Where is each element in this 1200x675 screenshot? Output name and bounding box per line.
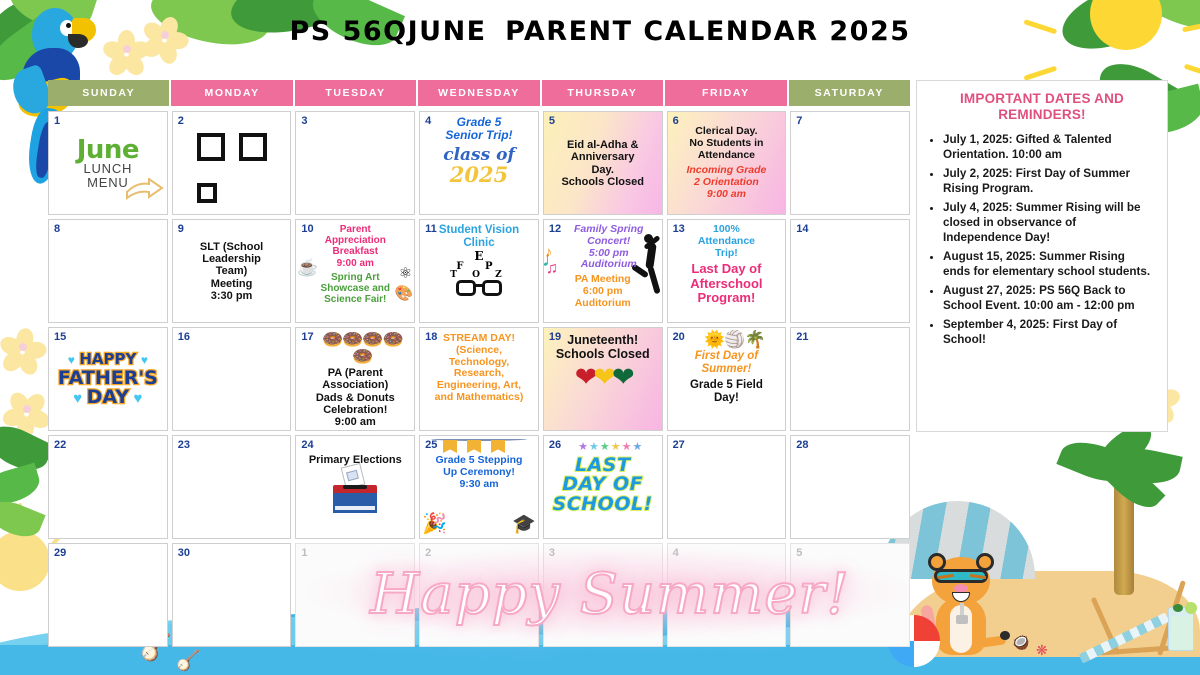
day-number: 19 bbox=[549, 331, 561, 343]
event-line: Parent bbox=[340, 224, 371, 235]
day-cell-25[interactable]: 25 Grade 5 Stepping Up Ceremony! 9:30 am… bbox=[419, 435, 539, 539]
day-content: 🌞🏐🌴 First Day of Summer! Grade 5 Field D… bbox=[668, 328, 786, 430]
event-line: Dads & Donuts bbox=[316, 392, 395, 404]
week-row-1: 1 June LUNCH MENU 2 bbox=[48, 111, 910, 215]
event-line: 100% bbox=[713, 224, 740, 236]
event-line: Celebration! bbox=[323, 404, 387, 416]
event-line: 3:30 pm bbox=[211, 290, 253, 302]
stars-decor-icon: ★★★★★★ bbox=[562, 440, 643, 453]
day-number: 28 bbox=[796, 439, 808, 451]
event-line: Showcase and bbox=[321, 283, 390, 294]
day-cell-21[interactable]: 21 bbox=[790, 327, 910, 431]
dow-thursday: THURSDAY bbox=[542, 80, 663, 106]
dow-saturday: SATURDAY bbox=[789, 80, 910, 106]
day-cell-2[interactable]: 2 bbox=[172, 111, 292, 215]
event-line: 9:00 am bbox=[707, 189, 746, 201]
list-item: July 4, 2025: Summer Rising will be clos… bbox=[943, 201, 1155, 246]
day-cell-15[interactable]: 15 ♥ HAPPY ♥ FATHER'S ♥ DAY ♥ bbox=[48, 327, 168, 431]
event-line: Concert! bbox=[575, 236, 630, 248]
day-cell-6[interactable]: 6 Clerical Day. No Students in Attendanc… bbox=[667, 111, 787, 215]
day-content: June LUNCH MENU bbox=[49, 112, 167, 214]
event-line: Schools Closed bbox=[556, 347, 650, 361]
week-row-3: 15 ♥ HAPPY ♥ FATHER'S ♥ DAY ♥ bbox=[48, 327, 910, 431]
day-of-week-header-row: SUNDAY MONDAY TUESDAY WEDNESDAY THURSDAY… bbox=[48, 80, 910, 106]
event-line: Summer! bbox=[701, 363, 751, 376]
last-day-art-line-2: DAY OF bbox=[562, 475, 643, 494]
dow-sunday: SUNDAY bbox=[48, 80, 169, 106]
event-line: Primary Elections bbox=[309, 454, 402, 466]
week-row-4: 22 23 24 Primary Elections bbox=[48, 435, 910, 539]
mojito-drink-icon bbox=[1168, 607, 1194, 651]
day-cell-17[interactable]: 17 🍩🍩🍩🍩🍩 PA (Parent Association) Dads & … bbox=[295, 327, 415, 431]
day-number: 16 bbox=[178, 331, 190, 343]
event-line: Juneteenth! bbox=[567, 333, 638, 347]
day-cell-3[interactable]: 3 bbox=[295, 111, 415, 215]
day-number: 7 bbox=[796, 115, 802, 127]
day-number: 22 bbox=[54, 439, 66, 451]
eye-chart-icon: E F P T O Z bbox=[450, 251, 507, 279]
day-cell-13[interactable]: 13 100% Attendance Trip! Last Day of Aft… bbox=[667, 219, 787, 323]
event-line: Leadership bbox=[202, 253, 261, 265]
day-cell-28[interactable]: 28 bbox=[790, 435, 910, 539]
day-number: 6 bbox=[673, 115, 679, 127]
important-dates-panel: IMPORTANT DATES AND REMINDERS! July 1, 2… bbox=[916, 80, 1168, 432]
day-cell-16[interactable]: 16 bbox=[172, 327, 292, 431]
summer-sun-beach-icon: 🌞🏐🌴 bbox=[688, 331, 765, 348]
day-number: 12 bbox=[549, 223, 561, 235]
dow-wednesday: WEDNESDAY bbox=[418, 80, 539, 106]
day-cell-27[interactable]: 27 bbox=[667, 435, 787, 539]
day-number: 20 bbox=[673, 331, 685, 343]
fathers-day-art-line-3: ♥ DAY ♥ bbox=[73, 388, 142, 408]
heart-icon: ♥ bbox=[68, 353, 75, 367]
event-line: Student Vision bbox=[439, 224, 519, 237]
event-line: SLT (School bbox=[200, 241, 263, 253]
list-item: August 27, 2025: PS 56Q Back to School E… bbox=[943, 284, 1155, 314]
day-content: Family Spring Concert! 5:00 pm Auditoriu… bbox=[544, 220, 662, 322]
day-number: 18 bbox=[425, 331, 437, 343]
calendar-page: PS 56QJUNE PARENT CALENDAR 2025 SUNDAY M… bbox=[0, 0, 1200, 675]
day-number: 5 bbox=[549, 115, 555, 127]
week-row-2: 8 9 SLT (School Leadership Team) Meeting… bbox=[48, 219, 910, 323]
heart-icon: ♥ bbox=[73, 390, 82, 407]
day-cell-10[interactable]: 10 Parent Appreciation Breakfast 9:00 am… bbox=[295, 219, 415, 323]
day-content: 100% Attendance Trip! Last Day of Afters… bbox=[668, 220, 786, 322]
last-day-art-line-3: SCHOOL! bbox=[553, 495, 653, 514]
title-main: PARENT CALENDAR 2025 bbox=[505, 16, 910, 47]
day-cell-4[interactable]: 4 Grade 5 Senior Trip! class of 2025 bbox=[419, 111, 539, 215]
day-number: 27 bbox=[673, 439, 685, 451]
donuts-icon: 🍩🍩🍩🍩🍩 bbox=[299, 331, 411, 365]
day-number: 17 bbox=[301, 331, 313, 343]
day-number: 29 bbox=[54, 547, 66, 559]
dow-monday: MONDAY bbox=[171, 80, 292, 106]
event-line: 2 Orientation bbox=[694, 177, 759, 189]
day-number: 26 bbox=[549, 439, 561, 451]
event-line: Trip! bbox=[715, 248, 738, 260]
day-number: 11 bbox=[425, 223, 437, 235]
event-line: Meeting bbox=[211, 278, 253, 290]
day-number: 3 bbox=[301, 115, 307, 127]
important-dates-list: July 1, 2025: Gifted & Talented Orientat… bbox=[943, 133, 1155, 348]
day-number: 13 bbox=[673, 223, 685, 235]
juneteenth-hearts-icon: ❤❤❤ bbox=[575, 364, 631, 391]
day-content: STREAM DAY! (Science, Technology, Resear… bbox=[420, 328, 538, 430]
day-cell-1[interactable]: 1 June LUNCH MENU bbox=[48, 111, 168, 215]
plumeria-flower-icon bbox=[10, 392, 44, 426]
day-content: ★★★★★★ LAST DAY OF SCHOOL! bbox=[544, 436, 662, 538]
day-number: 9 bbox=[178, 223, 184, 235]
day-content: Student Vision Clinic E F P T O Z bbox=[420, 220, 538, 322]
day-cell-18[interactable]: 18 STREAM DAY! (Science, Technology, Res… bbox=[419, 327, 539, 431]
event-line: Appreciation bbox=[325, 235, 386, 246]
lunch-label: LUNCH bbox=[83, 162, 132, 176]
list-item: July 1, 2025: Gifted & Talented Orientat… bbox=[943, 133, 1155, 163]
event-line: Anniversary bbox=[571, 151, 635, 163]
day-cell-24[interactable]: 24 Primary Elections bbox=[295, 435, 415, 539]
day-cell-30[interactable]: 30 bbox=[172, 543, 292, 647]
day-content: Grade 5 Stepping Up Ceremony! 9:30 am bbox=[420, 436, 538, 538]
event-line: 9:30 am bbox=[459, 479, 498, 491]
dow-friday: FRIDAY bbox=[665, 80, 786, 106]
day-content: Eid al-Adha & Anniversary Day. Schools C… bbox=[544, 112, 662, 214]
event-line: PA (Parent bbox=[328, 367, 383, 379]
eye-chart-line-3: T O Z bbox=[450, 271, 507, 279]
event-line: (Science, bbox=[456, 345, 502, 357]
event-line: 6:00 pm bbox=[583, 286, 623, 298]
day-cell-7[interactable]: 7 bbox=[790, 111, 910, 215]
bunting-flags-icon bbox=[429, 439, 529, 453]
event-line: Clinic bbox=[463, 237, 494, 250]
page-title: PS 56QJUNE PARENT CALENDAR 2025 bbox=[0, 16, 1200, 47]
event-line: Grade 5 Field bbox=[690, 379, 763, 392]
important-dates-heading: IMPORTANT DATES AND REMINDERS! bbox=[929, 91, 1155, 124]
day-content: ♥ HAPPY ♥ FATHER'S ♥ DAY ♥ bbox=[49, 328, 167, 430]
event-line: Attendance bbox=[698, 236, 755, 248]
plumeria-flower-icon bbox=[6, 330, 40, 364]
event-line: Senior Trip! bbox=[445, 129, 512, 142]
list-item: August 15, 2025: Summer Rising ends for … bbox=[943, 250, 1155, 280]
event-line: and Mathematics) bbox=[435, 392, 524, 404]
event-line: Afterschool bbox=[690, 277, 762, 292]
event-line: Grade 5 Stepping bbox=[436, 455, 523, 467]
day-content: Grade 5 Senior Trip! class of 2025 bbox=[420, 112, 538, 214]
day-number: 15 bbox=[54, 331, 66, 343]
day-number: 10 bbox=[301, 223, 313, 235]
event-line: No Students in bbox=[689, 138, 763, 150]
heart-icon: ♥ bbox=[134, 390, 143, 407]
day-cell-5[interactable]: 5 Eid al-Adha & Anniversary Day. Schools… bbox=[543, 111, 663, 215]
event-line: Day. bbox=[591, 164, 613, 176]
menu-label: MENU bbox=[87, 176, 128, 190]
day-cell-9[interactable]: 9 SLT (School Leadership Team) Meeting 3… bbox=[172, 219, 292, 323]
qr-code-icon[interactable] bbox=[195, 131, 269, 205]
event-line: Up Ceremony! bbox=[443, 467, 515, 479]
day-cell-14[interactable]: 14 bbox=[790, 219, 910, 323]
event-line: Team) bbox=[216, 265, 248, 277]
event-line: 9:00 am bbox=[337, 258, 374, 269]
title-school: PS 56QJUNE bbox=[289, 16, 486, 47]
day-number: 25 bbox=[425, 439, 437, 451]
eyeglasses-icon bbox=[456, 280, 502, 297]
day-cell-22[interactable]: 22 bbox=[48, 435, 168, 539]
day-content: Primary Elections bbox=[296, 436, 414, 538]
day-cell-19[interactable]: 19 Juneteenth! Schools Closed ❤❤❤ bbox=[543, 327, 663, 431]
day-number: 4 bbox=[425, 115, 431, 127]
heart-icon: ♥ bbox=[141, 353, 148, 367]
day-number: 24 bbox=[301, 439, 313, 451]
event-line: PA Meeting bbox=[575, 274, 631, 286]
event-line: Auditorium bbox=[569, 259, 637, 271]
event-line: 9:00 am bbox=[335, 416, 376, 428]
day-content: SLT (School Leadership Team) Meeting 3:3… bbox=[173, 220, 291, 322]
day-cell-29[interactable]: 29 bbox=[48, 543, 168, 647]
dow-tuesday: TUESDAY bbox=[295, 80, 416, 106]
day-cell-26[interactable]: 26 ★★★★★★ LAST DAY OF SCHOOL! bbox=[543, 435, 663, 539]
happy-summer-banner: Happy Summer! bbox=[330, 548, 890, 640]
day-content: 🍩🍩🍩🍩🍩 PA (Parent Association) Dads & Don… bbox=[296, 328, 414, 430]
event-line: Last Day of bbox=[691, 262, 761, 277]
day-cell-20[interactable]: 20 🌞🏐🌴 First Day of Summer! Grade 5 Fiel… bbox=[667, 327, 787, 431]
event-line: Science Fair! bbox=[324, 294, 386, 305]
event-line: Grade 5 bbox=[457, 116, 502, 129]
day-number: 23 bbox=[178, 439, 190, 451]
ballot-box-icon bbox=[329, 471, 381, 513]
event-line: Clerical Day. bbox=[695, 126, 757, 138]
event-line: First Day of bbox=[695, 350, 758, 363]
event-line: Attendance bbox=[698, 150, 755, 162]
happy-summer-text: Happy Summer! bbox=[370, 562, 849, 627]
day-content: Clerical Day. No Students in Attendance … bbox=[668, 112, 786, 214]
classof-year-art: 2025 bbox=[450, 164, 508, 185]
day-cell-12[interactable]: 12 Family Spring Concert! 5:00 pm Audito… bbox=[543, 219, 663, 323]
day-number: 30 bbox=[178, 547, 190, 559]
day-number: 2 bbox=[178, 115, 184, 127]
event-line: Family Spring bbox=[562, 224, 643, 236]
day-number: 14 bbox=[796, 223, 808, 235]
day-number: 8 bbox=[54, 223, 60, 235]
event-line: Eid al-Adha & bbox=[567, 139, 639, 151]
day-cell-23[interactable]: 23 bbox=[172, 435, 292, 539]
beach-scene-decor: 🥥 ❋ bbox=[900, 415, 1200, 675]
event-line: Program! bbox=[698, 291, 756, 306]
day-content: Parent Appreciation Breakfast 9:00 am Sp… bbox=[296, 220, 414, 322]
june-lunch-menu-title: June bbox=[77, 138, 139, 163]
day-content bbox=[173, 112, 291, 214]
list-item: September 4, 2025: First Day of School! bbox=[943, 318, 1155, 348]
day-number: 1 bbox=[54, 115, 60, 127]
day-cell-11[interactable]: 11 Student Vision Clinic E F P T O Z bbox=[419, 219, 539, 323]
event-line: Spring Art bbox=[331, 272, 380, 283]
event-line: Association) bbox=[322, 379, 388, 391]
day-cell-8[interactable]: 8 bbox=[48, 219, 168, 323]
day-content: Juneteenth! Schools Closed ❤❤❤ bbox=[544, 328, 662, 430]
event-line: STREAM DAY! bbox=[443, 333, 515, 345]
event-line: Auditorium bbox=[575, 298, 631, 310]
list-item: July 2, 2025: First Day of Summer Rising… bbox=[943, 167, 1155, 197]
event-line: Engineering, Art, bbox=[437, 380, 521, 392]
day-number: 21 bbox=[796, 331, 808, 343]
event-line: Schools Closed bbox=[561, 176, 644, 188]
event-line: Breakfast bbox=[332, 246, 378, 257]
event-line: Day! bbox=[714, 392, 739, 405]
